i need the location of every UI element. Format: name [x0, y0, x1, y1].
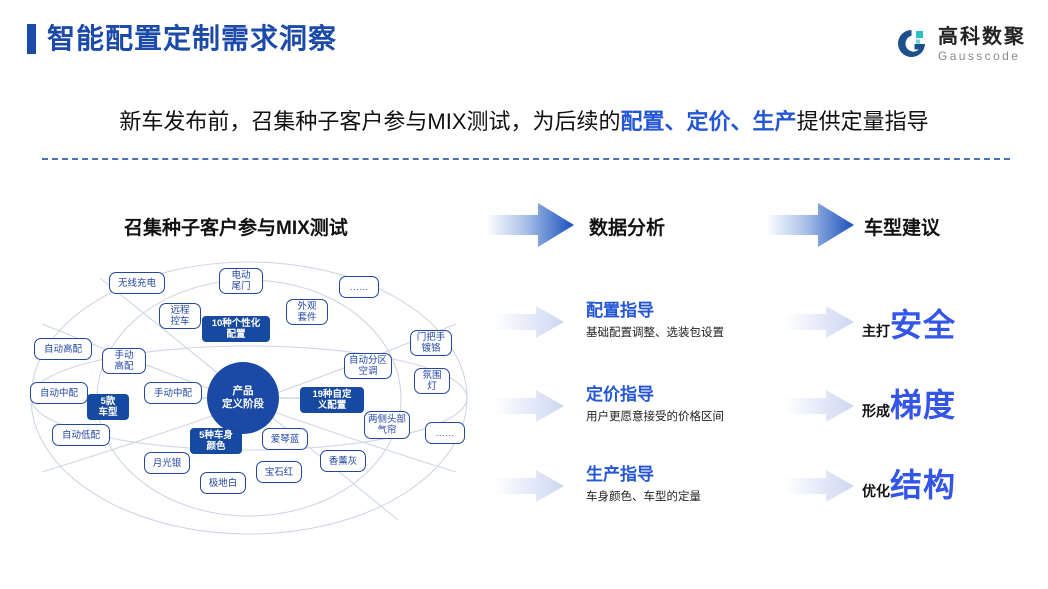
column-header-suggestion: 车型建议 — [864, 213, 940, 240]
leaf7-line1: 氛围 — [422, 370, 441, 381]
leaf6-line2: 空调 — [349, 366, 387, 377]
row-arrow-left-3-icon — [494, 469, 564, 503]
mindmap-category-colors[interactable]: 5种车身 颜色 — [190, 428, 242, 454]
mindmap-leaf-appearance-kit[interactable]: 外观 套件 — [286, 299, 328, 325]
mindmap-hub-node[interactable]: 产品 定义阶段 — [207, 362, 279, 434]
suggestion-prefix-2: 形成 — [862, 401, 890, 421]
mindmap-leaf-auto-mid-trim[interactable]: 自动中配 — [30, 382, 88, 404]
suggestion-word-3: 结构 — [890, 460, 956, 506]
column-header-analysis: 数据分析 — [589, 213, 665, 240]
suggestion-row-safety: 主打 安全 — [862, 300, 956, 346]
leaf7-line2: 灯 — [422, 381, 441, 392]
cat1-line1: 19种自定 — [312, 389, 351, 400]
cat3-line1: 5种车身 — [199, 430, 233, 441]
leaf3-line1: 外观 — [297, 301, 316, 312]
leaf2-line1: 远程 — [170, 305, 189, 316]
suggestion-word-1: 安全 — [890, 300, 956, 346]
cat2-line1: 5款 — [98, 396, 117, 407]
leaf11-line1: 手动 — [114, 350, 133, 361]
mindmap-leaf-lavender-grey[interactable]: 香薰灰 — [320, 450, 366, 472]
cat2-line2: 车型 — [98, 407, 117, 418]
row-arrow-left-1-icon — [494, 305, 564, 339]
cat0-line1: 10种个性化 — [212, 318, 261, 329]
cat3-line2: 颜色 — [199, 441, 233, 452]
suggestion-row-tiering: 形成 梯度 — [862, 380, 956, 426]
row-arrow-right-3-icon — [784, 469, 854, 503]
page-title: 智能配置定制需求洞察 — [47, 20, 337, 58]
title-bullet-icon — [27, 24, 36, 54]
leaf1-line2: 尾门 — [231, 281, 250, 292]
row-arrow-right-2-icon — [784, 389, 854, 423]
brand-logo: 高科数聚 Gausscode — [894, 22, 1026, 66]
logo-name-en: Gausscode — [938, 50, 1026, 62]
mindmap-leaf-remote-control[interactable]: 远程 控车 — [159, 303, 201, 329]
leaf6-line1: 自动分区 — [349, 355, 387, 366]
hub-label-line1: 产品 — [222, 385, 264, 398]
mindmap-diagram: 产品 定义阶段 10种个性化 配置 19种自定 义配置 5款 车型 — [14, 258, 484, 538]
mindmap-leaf-moonlight-silver[interactable]: 月光银 — [144, 452, 190, 474]
subtitle-post: 提供定量指导 — [797, 109, 929, 134]
mindmap-category-custom[interactable]: 19种自定 义配置 — [300, 387, 364, 413]
mindmap-leaf-ambient-light[interactable]: 氛围 灯 — [414, 368, 450, 394]
mindmap-category-personalized[interactable]: 10种个性化 配置 — [202, 316, 270, 342]
hub-label-line2: 定义阶段 — [222, 398, 264, 411]
logo-text: 高科数聚 Gausscode — [938, 27, 1026, 62]
mindmap-leaf-polar-white[interactable]: 极地白 — [200, 472, 246, 494]
row-arrow-left-2-icon — [494, 389, 564, 423]
leaf5-line1: 门把手 — [417, 332, 446, 343]
slide-root: 智能配置定制需求洞察 高科数聚 Gausscode 新车发布前，召集种子客户参与… — [0, 0, 1048, 589]
cat1-line2: 义配置 — [312, 400, 351, 411]
cat0-line2: 配置 — [212, 329, 261, 340]
flow-arrow-2-icon — [766, 202, 854, 248]
suggestion-prefix-3: 优化 — [862, 481, 890, 501]
section-divider — [42, 158, 1010, 160]
row-arrow-right-1-icon — [784, 305, 854, 339]
mindmap-leaf-auto-low-trim[interactable]: 自动低配 — [52, 424, 110, 446]
suggestion-prefix-1: 主打 — [862, 321, 890, 341]
leaf5-line2: 镀铬 — [417, 343, 446, 354]
subtitle-line: 新车发布前，召集种子客户参与MIX测试，为后续的配置、定价、生产提供定量指导 — [0, 104, 1048, 136]
mindmap-leaf-auto-high-trim[interactable]: 自动高配 — [34, 338, 92, 360]
leaf8-line1: 两侧头部 — [368, 414, 406, 425]
mindmap-leaf-door-handle-chrome[interactable]: 门把手 镀铬 — [410, 330, 452, 356]
leaf2-line2: 控车 — [170, 316, 189, 327]
leaf11-line2: 高配 — [114, 361, 133, 372]
logo-name-cn: 高科数聚 — [938, 27, 1026, 47]
suggestion-word-2: 梯度 — [890, 380, 956, 426]
mindmap-leaf-ellipsis-top[interactable]: …… — [339, 276, 379, 298]
mindmap-category-models[interactable]: 5款 车型 — [87, 394, 129, 420]
mindmap-leaf-ellipsis-right[interactable]: …… — [425, 422, 465, 444]
leaf8-line2: 气帘 — [368, 425, 406, 436]
column-header-collect: 召集种子客户参与MIX测试 — [124, 213, 348, 240]
leaf1-line1: 电动 — [231, 270, 250, 281]
mindmap-leaf-wireless-charging[interactable]: 无线充电 — [109, 272, 165, 294]
subtitle-highlight: 配置、定价、生产 — [621, 109, 797, 134]
slide-header: 智能配置定制需求洞察 高科数聚 Gausscode — [0, 0, 1048, 86]
mindmap-leaf-manual-mid-trim[interactable]: 手动中配 — [144, 382, 202, 404]
suggestion-row-structure: 优化 结构 — [862, 460, 956, 506]
flow-arrow-1-icon — [486, 202, 574, 248]
mindmap-leaf-manual-high-trim[interactable]: 手动 高配 — [102, 348, 146, 374]
leaf3-line2: 套件 — [297, 312, 316, 323]
mindmap-leaf-ruby-red[interactable]: 宝石红 — [256, 461, 302, 483]
mindmap-leaf-dual-zone-ac[interactable]: 自动分区 空调 — [344, 353, 392, 379]
mindmap-leaf-power-tailgate[interactable]: 电动 尾门 — [219, 268, 263, 294]
subtitle-pre: 新车发布前，召集种子客户参与MIX测试，为后续的 — [119, 109, 620, 134]
mindmap-leaf-side-head-curtain[interactable]: 两侧头部 气帘 — [364, 411, 410, 439]
gausscode-logo-mark-icon — [894, 27, 930, 61]
mindmap-leaf-aegean-blue[interactable]: 爱琴蓝 — [262, 428, 308, 450]
